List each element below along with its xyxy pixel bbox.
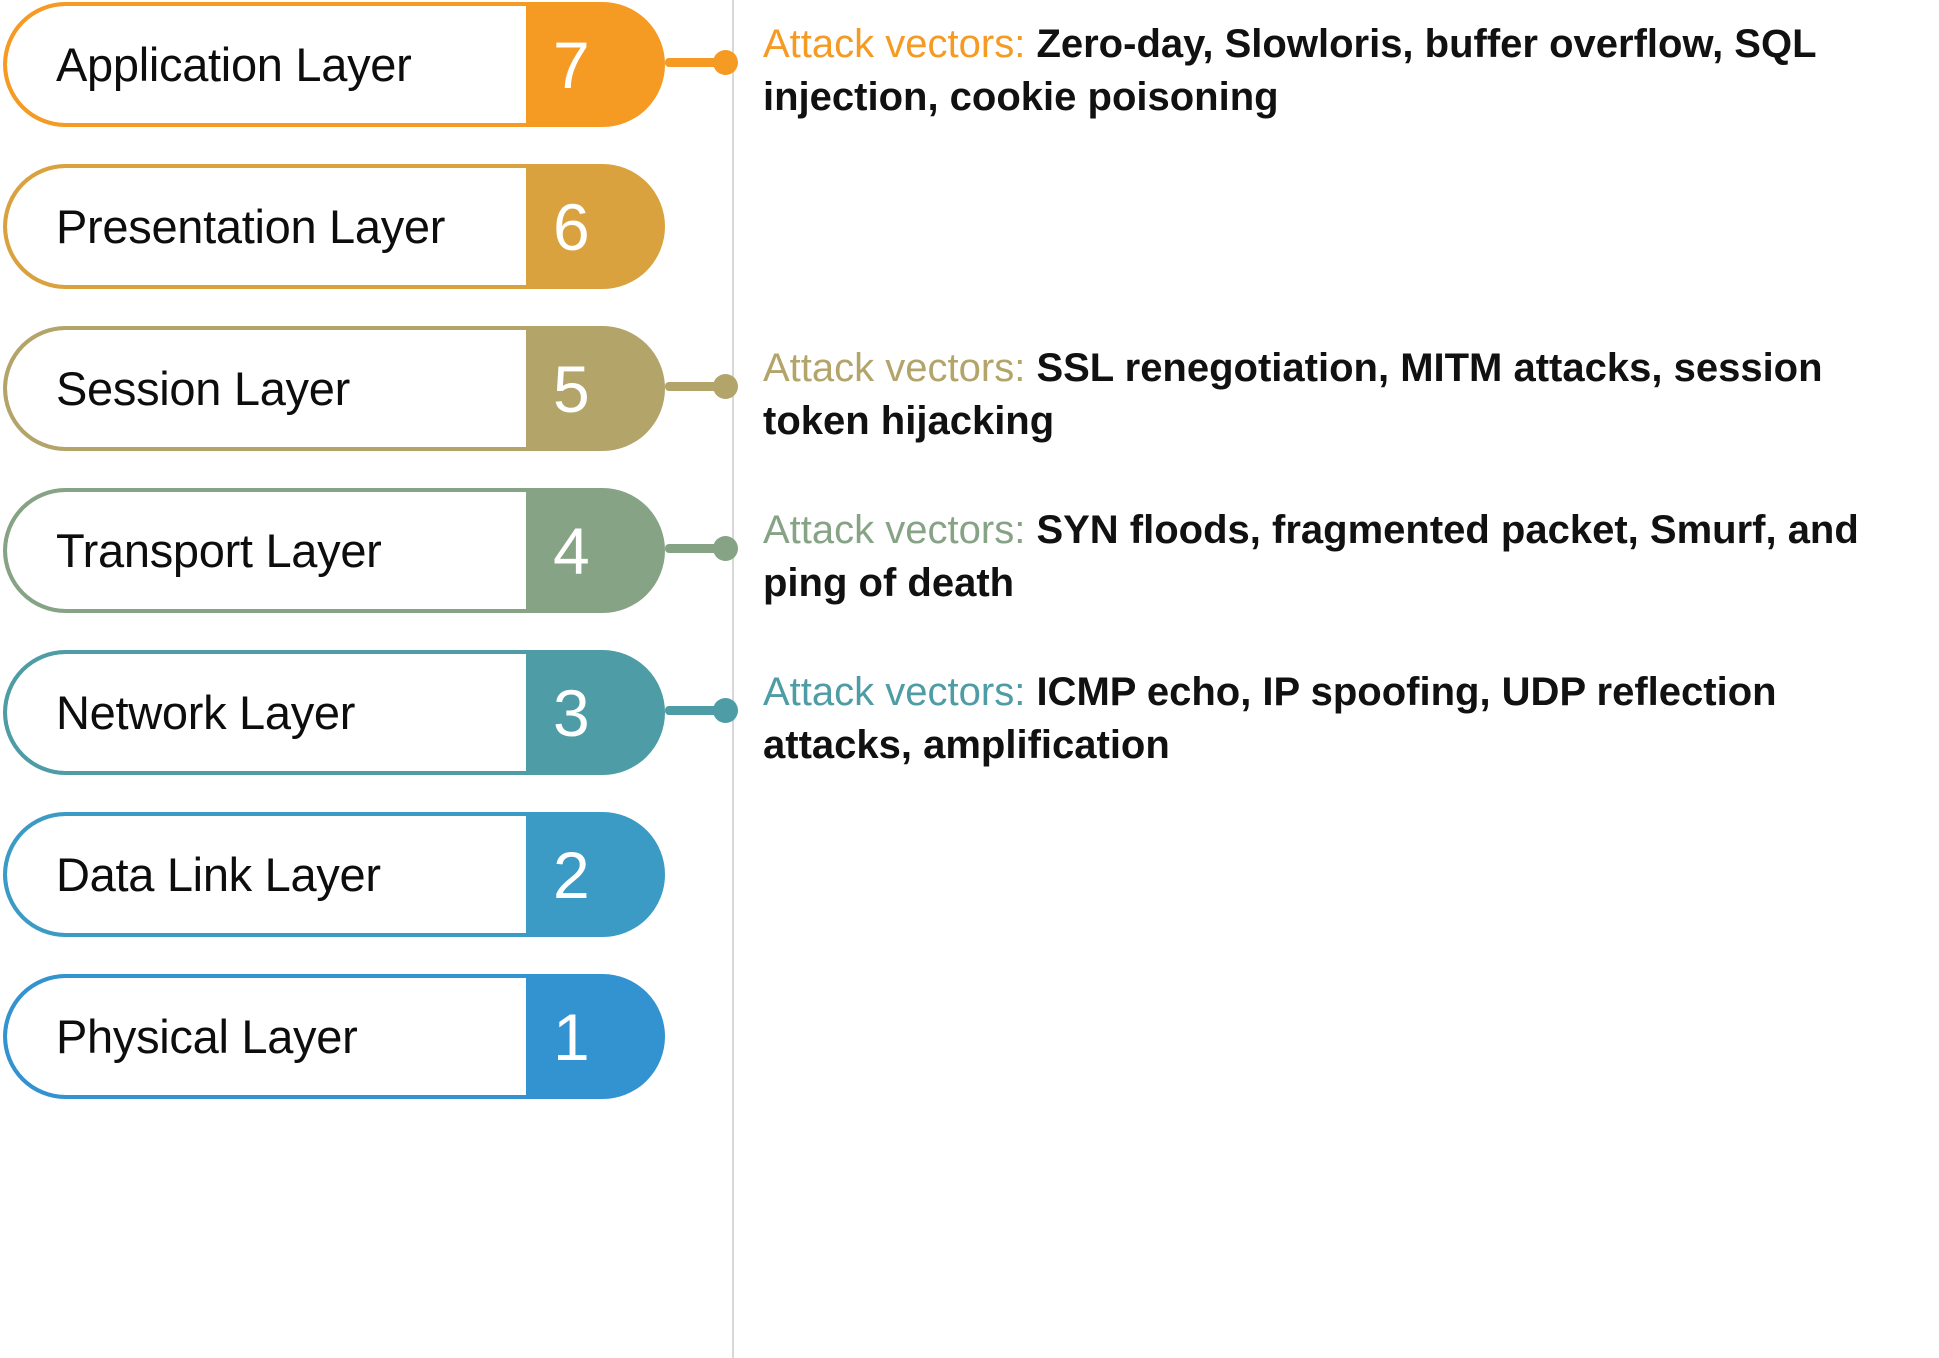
attack-vector-annotation: Attack vectors: ICMP echo, IP spoofing, … (763, 666, 1923, 772)
layer-name-container: Session Layer (7, 330, 526, 447)
layer-number-text: 2 (553, 842, 590, 908)
layer-name-container: Network Layer (7, 654, 526, 771)
layer-number-text: 4 (553, 518, 590, 584)
attack-vectors-label: Attack vectors: (763, 346, 1025, 390)
layer-name-container: Data Link Layer (7, 816, 526, 933)
connector-line (665, 544, 719, 553)
attack-vectors-label: Attack vectors: (763, 670, 1025, 714)
connector-dot (713, 698, 738, 723)
layer-name-container: Application Layer (7, 6, 526, 123)
layer-number-badge: 6 (526, 168, 661, 285)
attack-vectors-label: Attack vectors: (763, 508, 1025, 552)
layer-name-label: Data Link Layer (56, 851, 381, 898)
layer-name-label: Transport Layer (56, 527, 382, 574)
layer-pill-physical-layer[interactable]: Physical Layer1 (3, 974, 665, 1099)
layer-name-container: Presentation Layer (7, 168, 526, 285)
connector-line (665, 706, 719, 715)
attack-vector-annotation: Attack vectors: Zero-day, Slowloris, buf… (763, 18, 1923, 124)
layer-name-label: Application Layer (56, 41, 411, 88)
layer-name-label: Network Layer (56, 689, 355, 736)
osi-layer-row: Physical Layer1 (0, 974, 1939, 1136)
layer-pill-transport-layer[interactable]: Transport Layer4 (3, 488, 665, 613)
attack-vectors-label: Attack vectors: (763, 22, 1025, 66)
osi-layer-row: Data Link Layer2 (0, 812, 1939, 974)
layer-number-badge: 1 (526, 978, 661, 1095)
layer-pill-session-layer[interactable]: Session Layer5 (3, 326, 665, 451)
layer-number-text: 3 (553, 680, 590, 746)
layer-pill-application-layer[interactable]: Application Layer7 (3, 2, 665, 127)
layer-pill-presentation-layer[interactable]: Presentation Layer6 (3, 164, 665, 289)
layer-name-container: Transport Layer (7, 492, 526, 609)
layer-number-badge: 2 (526, 816, 661, 933)
osi-diagram-canvas: Application Layer7Presentation Layer6Ses… (0, 0, 1939, 1358)
connector-dot (713, 50, 738, 75)
connector-line (665, 58, 719, 67)
osi-layer-row: Presentation Layer6 (0, 164, 1939, 326)
layer-number-text: 5 (553, 356, 590, 422)
layer-number-badge: 7 (526, 6, 661, 123)
layer-number-badge: 5 (526, 330, 661, 447)
layer-name-label: Presentation Layer (56, 203, 445, 250)
layer-number-text: 1 (553, 1004, 590, 1070)
connector-line (665, 382, 719, 391)
layer-number-badge: 4 (526, 492, 661, 609)
connector-dot (713, 536, 738, 561)
layer-pill-network-layer[interactable]: Network Layer3 (3, 650, 665, 775)
layer-name-label: Physical Layer (56, 1013, 357, 1060)
layer-number-badge: 3 (526, 654, 661, 771)
connector-dot (713, 374, 738, 399)
attack-vector-annotation: Attack vectors: SSL renegotiation, MITM … (763, 342, 1923, 448)
layer-pill-data-link-layer[interactable]: Data Link Layer2 (3, 812, 665, 937)
layer-name-container: Physical Layer (7, 978, 526, 1095)
attack-vector-annotation: Attack vectors: SYN floods, fragmented p… (763, 504, 1923, 610)
layer-number-text: 6 (553, 194, 590, 260)
layer-number-text: 7 (553, 32, 590, 98)
layer-name-label: Session Layer (56, 365, 350, 412)
